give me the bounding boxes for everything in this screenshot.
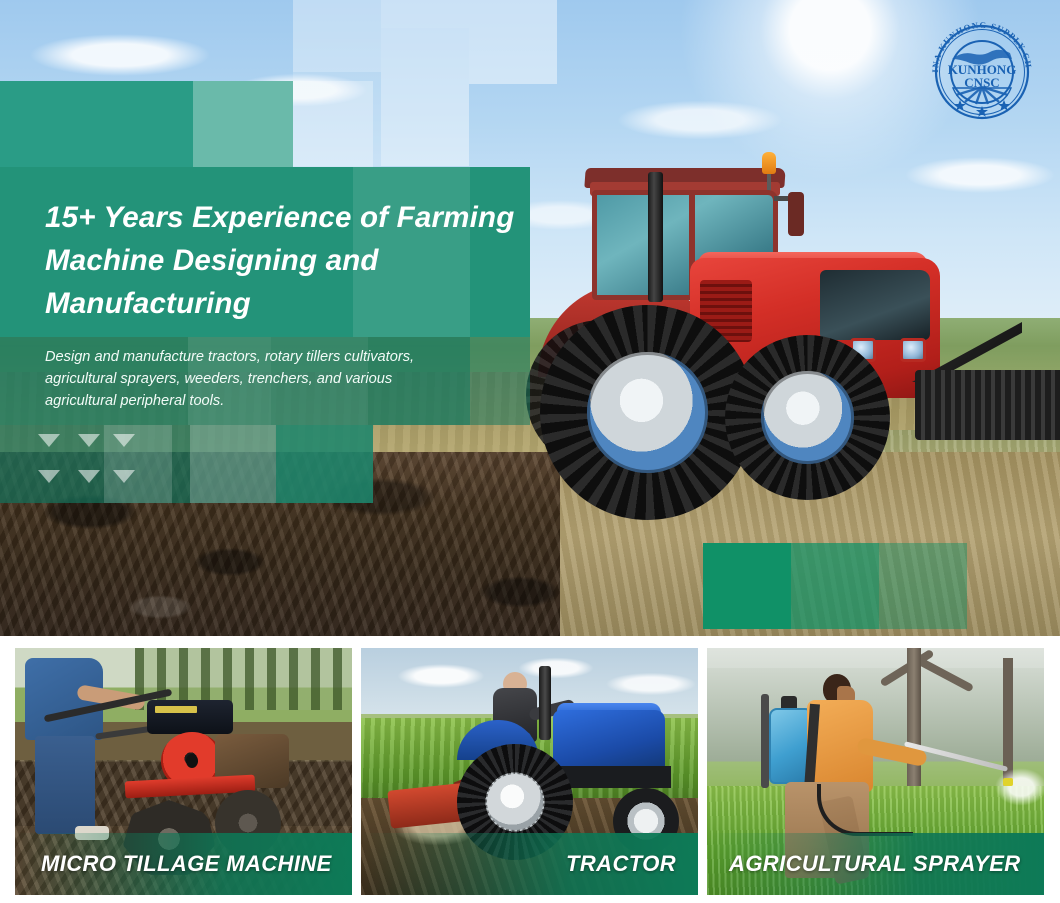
green-panel-right-strip (470, 337, 530, 425)
card3-pump-handle (761, 694, 769, 788)
product-card-micro-tillage-machine[interactable]: MICRO TILLAGE MACHINE (15, 648, 352, 895)
card1-engine-label (155, 706, 197, 713)
logo-secondary-text: CNSC (964, 75, 999, 90)
triangle-decor-icon (113, 470, 135, 483)
promo-banner-page: 15+ Years Experience of Farming Machine … (0, 0, 1060, 903)
card3-spray-nozzle (1003, 778, 1013, 786)
decor-square-2 (381, 0, 469, 28)
tractor-side-mirror (788, 192, 804, 236)
product-card-row: MICRO TILLAGE MACHINE TRACTOR (0, 636, 1060, 903)
card1-label-text: MICRO TILLAGE MACHINE (41, 851, 332, 877)
decor-green-block-3 (879, 543, 967, 629)
card2-label-text: TRACTOR (566, 851, 676, 877)
red-tractor-image (530, 130, 1060, 550)
triangle-decor-icon (78, 434, 100, 447)
triangle-decor-icon (78, 470, 100, 483)
hero-section: 15+ Years Experience of Farming Machine … (0, 0, 1060, 636)
tractor-exhaust-stack (648, 172, 663, 302)
triangle-decor-icon (38, 434, 60, 447)
tractor-front-wheel (725, 335, 890, 500)
tractor-rear-wheel (540, 305, 755, 520)
tractor-side-window (820, 270, 930, 340)
card3-spray-mist (993, 752, 1044, 822)
decor-green-block-2 (791, 543, 879, 629)
hero-subtext: Design and manufacture tractors, rotary … (45, 346, 465, 412)
card2-tractor-hood (553, 710, 665, 772)
decor-square-4 (381, 28, 469, 166)
tractor-beacon-light (762, 152, 776, 174)
card3-label-text: AGRICULTURAL SPRAYER (729, 851, 1021, 877)
card2-exhaust-stack (539, 666, 551, 740)
triangle-decor-icon (113, 434, 135, 447)
green-panel-lower-tint-b (190, 425, 276, 503)
card1-operator-legs (35, 736, 95, 834)
decor-green-block-1 (703, 543, 791, 629)
decor-square-1 (293, 0, 381, 72)
green-panel-top-overlay (193, 81, 373, 167)
card3-label-bar: AGRICULTURAL SPRAYER (707, 833, 1044, 895)
triangle-decor-icon (38, 470, 60, 483)
tractor-front-weight (915, 370, 1060, 440)
hero-headline: 15+ Years Experience of Farming Machine … (45, 196, 515, 325)
product-card-agricultural-sprayer[interactable]: AGRICULTURAL SPRAYER (707, 648, 1044, 895)
decor-square-3 (469, 0, 557, 84)
company-logo[interactable]: CHINA KUNHONG SUPPLY CHAIN KUNHONG CNSC (922, 12, 1042, 132)
product-card-tractor[interactable]: TRACTOR (361, 648, 698, 895)
card1-label-bar: MICRO TILLAGE MACHINE (15, 833, 352, 895)
green-panel-lower-tint-c (276, 425, 373, 503)
card2-label-bar: TRACTOR (361, 833, 698, 895)
tractor-headlamp-right (900, 338, 926, 362)
